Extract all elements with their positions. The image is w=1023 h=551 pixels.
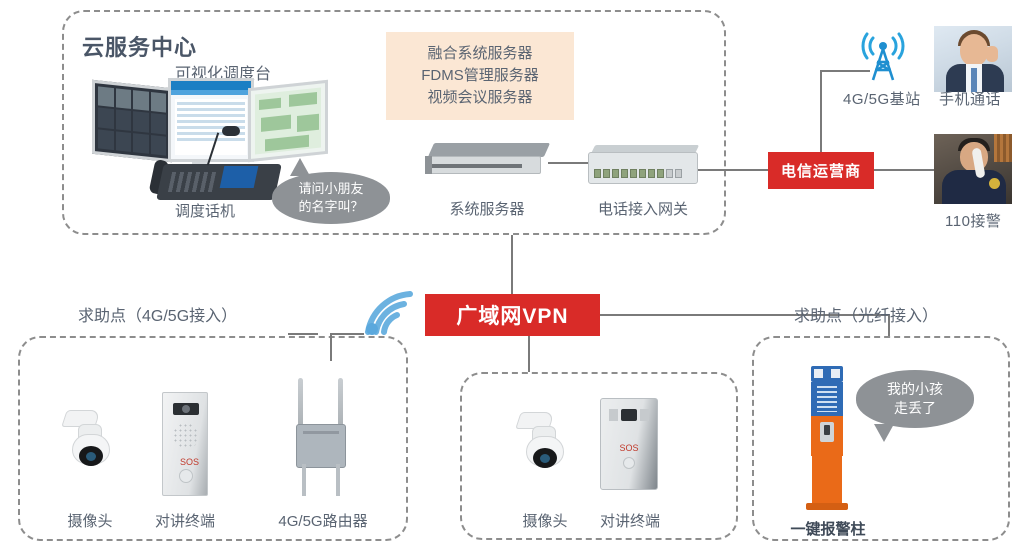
camera-icon-middle [516, 410, 574, 472]
base-station-label: 4G/5G基站 [843, 88, 921, 109]
speech-bubble-dispatch-line2: 的名字叫？ [298, 198, 363, 216]
link-cloud-to-vpn [511, 235, 513, 294]
police-dispatch-photo [934, 134, 1012, 204]
system-server-label: 系统服务器 [426, 198, 548, 219]
mobile-call-label: 手机通话 [939, 88, 1001, 109]
phone-access-gateway-icon [588, 152, 698, 184]
one-key-alarm-pillar-icon [806, 366, 848, 512]
speech-bubble-pillar-line2: 走丢了 [894, 399, 936, 418]
server-role-2: FDMS管理服务器 [421, 65, 539, 87]
system-server-icon [425, 143, 547, 179]
telecom-operator-node[interactable]: 电信运营商 [768, 152, 874, 189]
wan-vpn-node[interactable]: 广域网VPN [425, 294, 600, 336]
base-station-icon [855, 28, 911, 86]
speech-bubble-pillar-line1: 我的小孩 [887, 380, 943, 399]
camera-icon-left [62, 408, 120, 470]
link-site-left-top [288, 333, 318, 335]
alarm-pillar-label: 一键报警柱 [776, 518, 880, 539]
visual-dispatch-phone-image [160, 140, 278, 200]
link-telecom-to-basestation-v [820, 70, 822, 153]
site-left-device-label-1: 对讲终端 [135, 510, 235, 531]
router-icon-left [288, 378, 356, 496]
link-server-to-gateway [548, 162, 590, 164]
link-vpn-to-site-middle [528, 336, 530, 372]
link-telecom-left [726, 169, 768, 171]
site-right-title: 求助点（光纤接入） [794, 302, 938, 326]
server-role-3: 视频会议服务器 [427, 87, 532, 109]
intercom-terminal-icon-middle: SOS [600, 398, 658, 490]
server-roles-note: 融合系统服务器 FDMS管理服务器 视频会议服务器 [386, 32, 574, 120]
speech-bubble-dispatch: 请问小朋友 的名字叫？ [272, 172, 390, 224]
speech-bubble-pillar: 我的小孩 走丢了 [856, 370, 974, 428]
cloud-center-title: 云服务中心 [82, 30, 197, 62]
phone-access-gateway-label: 电话接入网关 [580, 198, 706, 219]
server-role-1: 融合系统服务器 [427, 43, 532, 65]
site-left-device-label-0: 摄像头 [40, 510, 140, 531]
mobile-call-photo [934, 26, 1012, 92]
diagram-canvas: 云服务中心 可视化调度台 调度话机 请问小朋友 [0, 0, 1023, 551]
site-left-device-label-2: 4G/5G路由器 [258, 510, 388, 531]
intercom-terminal-icon-left: SOS [162, 392, 208, 496]
link-telecom-to-police [874, 169, 934, 171]
telecom-operator-label: 电信运营商 [781, 160, 861, 181]
police-label: 110接警 [945, 210, 1001, 231]
wan-vpn-label: 广域网VPN [456, 300, 568, 330]
link-vpn-to-site-left-v [330, 333, 332, 361]
site-middle-device-label-1: 对讲终端 [580, 510, 680, 531]
speech-bubble-dispatch-line1: 请问小朋友 [298, 180, 363, 198]
wifi-icon [358, 288, 416, 340]
dispatch-phone-label: 调度话机 [145, 200, 265, 221]
site-left-title: 求助点（4G/5G接入） [78, 302, 237, 326]
